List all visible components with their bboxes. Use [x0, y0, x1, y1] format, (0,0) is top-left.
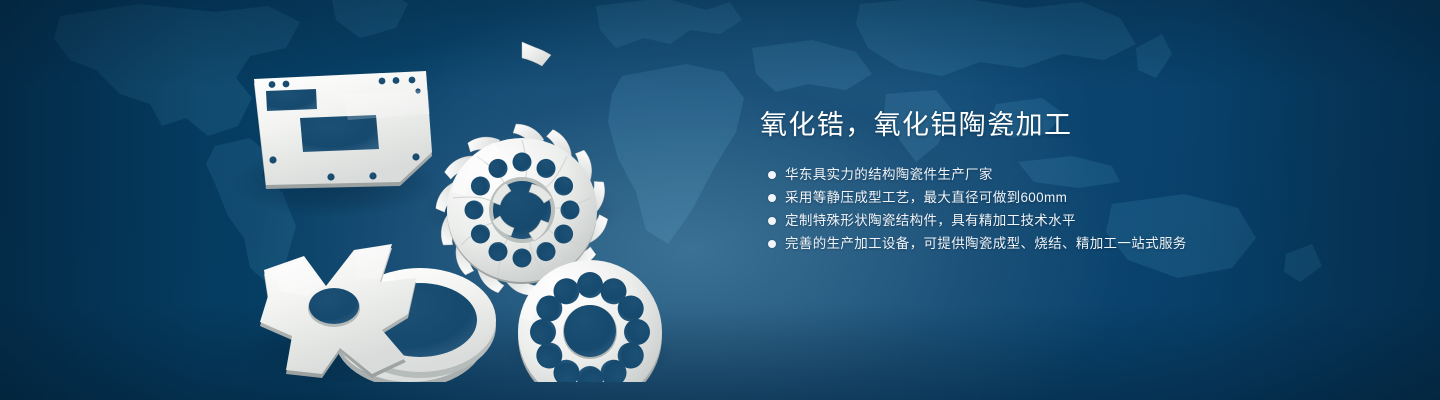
bullet-dot-icon — [768, 217, 776, 225]
hero-banner: 氧化锆，氧化铝陶瓷加工 华东具实力的结构陶瓷件生产厂家 采用等静压成型工艺，最大… — [0, 0, 1440, 400]
list-item: 定制特殊形状陶瓷结构件，具有精加工技术水平 — [760, 210, 1320, 232]
bullet-dot-icon — [768, 240, 776, 248]
bullet-dot-icon — [768, 194, 776, 202]
ceramic-plate-with-cutouts — [254, 71, 432, 189]
product-photo-cluster — [230, 34, 700, 382]
ceramic-impeller-disc — [434, 42, 611, 298]
feature-text: 华东具实力的结构陶瓷件生产厂家 — [785, 164, 993, 186]
banner-copy: 氧化锆，氧化铝陶瓷加工 华东具实力的结构陶瓷件生产厂家 采用等静压成型工艺，最大… — [760, 108, 1320, 256]
feature-text: 定制特殊形状陶瓷结构件，具有精加工技术水平 — [785, 210, 1076, 232]
list-item: 采用等静压成型工艺，最大直径可做到600mm — [760, 187, 1320, 209]
feature-list: 华东具实力的结构陶瓷件生产厂家 采用等静压成型工艺，最大直径可做到600mm 定… — [760, 164, 1320, 255]
list-item: 完善的生产加工设备，可提供陶瓷成型、烧结、精加工一站式服务 — [760, 233, 1320, 255]
feature-text: 完善的生产加工设备，可提供陶瓷成型、烧结、精加工一站式服务 — [785, 233, 1187, 255]
bullet-dot-icon — [768, 171, 776, 179]
feature-text: 采用等静压成型工艺，最大直径可做到600mm — [785, 187, 1067, 209]
page-title: 氧化锆，氧化铝陶瓷加工 — [760, 108, 1320, 142]
list-item: 华东具实力的结构陶瓷件生产厂家 — [760, 164, 1320, 186]
